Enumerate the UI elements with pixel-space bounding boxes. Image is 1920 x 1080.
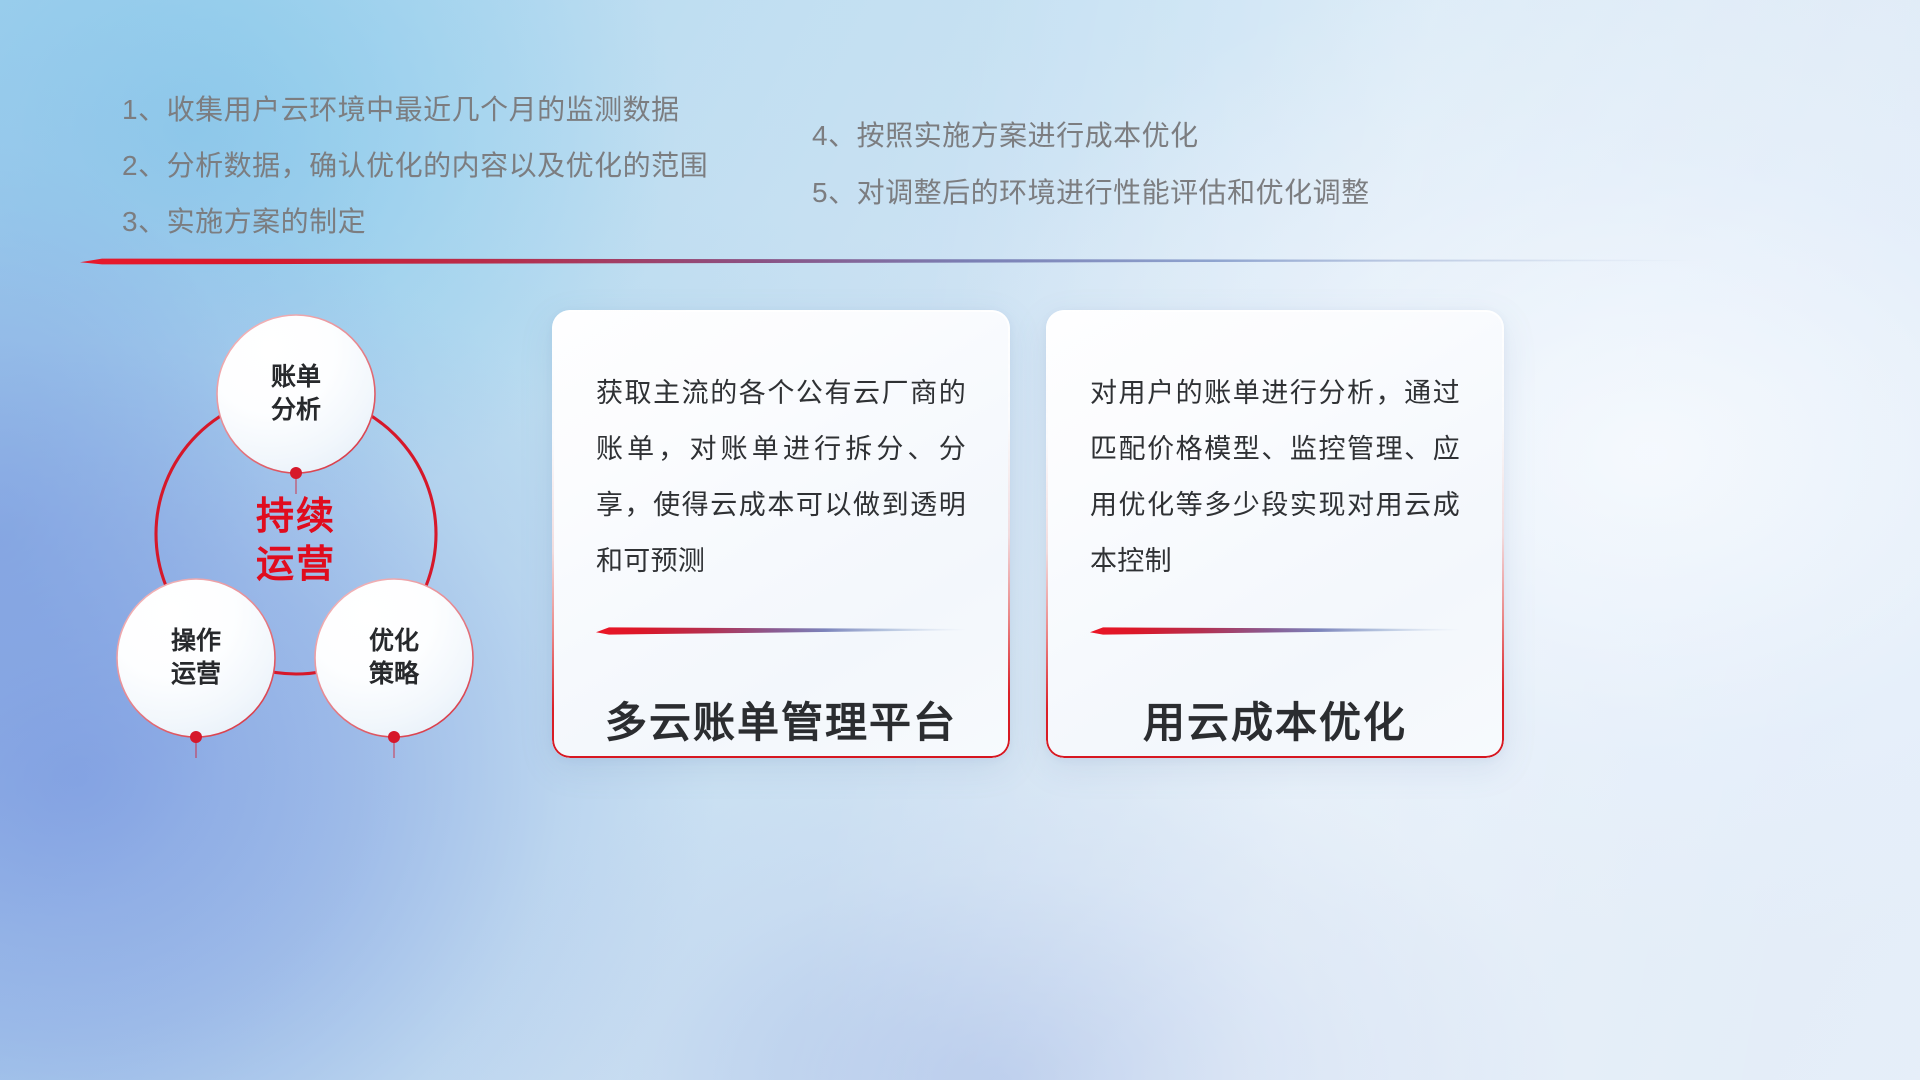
venn-node-optimization[interactable]: 优化 策略 — [315, 579, 473, 758]
venn-node-label-line2: 分析 — [271, 396, 321, 424]
card-body-text: 获取主流的各个公有云厂商的账单，对账单进行拆分、分享，使得云成本可以做到透明和可… — [596, 366, 966, 590]
venn-node-circle — [117, 579, 275, 737]
section-divider — [80, 252, 1700, 268]
step-item: 2、分析数据，确认优化的内容以及优化的范围 — [122, 152, 708, 180]
continuous-operations-diagram: 操作 运营 优化 策略 账单 分析 持续 运营 — [78, 286, 548, 776]
card-body-text: 对用户的账单进行分析，通过匹配价格模型、监控管理、应用优化等多少段实现对用云成本… — [1090, 366, 1460, 590]
card-title: 用云成本优化 — [1090, 689, 1460, 750]
venn-node-label-line1: 优化 — [369, 627, 419, 655]
venn-center-label-line1: 持续 — [256, 496, 336, 538]
card-accent-line — [596, 624, 966, 635]
venn-node-label-line2: 策略 — [369, 659, 420, 688]
steps-list-left: 1、收集用户云环境中最近几个月的监测数据 2、分析数据，确认优化的内容以及优化的… — [122, 96, 708, 264]
venn-node-label-line1: 操作 — [171, 627, 221, 655]
card-title: 多云账单管理平台 — [596, 689, 966, 750]
feature-card-cloud-cost-optimization[interactable]: 对用户的账单进行分析，通过匹配价格模型、监控管理、应用优化等多少段实现对用云成本… — [1046, 310, 1504, 758]
steps-list-right: 4、按照实施方案进行成本优化 5、对调整后的环境进行性能评估和优化调整 — [812, 122, 1370, 236]
step-item: 1、收集用户云环境中最近几个月的监测数据 — [122, 96, 708, 124]
step-item: 4、按照实施方案进行成本优化 — [812, 122, 1370, 150]
venn-node-label-line2: 运营 — [171, 660, 221, 688]
venn-node-label-line1: 账单 — [271, 363, 321, 391]
venn-node-operations[interactable]: 操作 运营 — [117, 579, 275, 758]
card-accent-line — [1090, 624, 1460, 635]
step-item: 3、实施方案的制定 — [122, 208, 708, 236]
venn-node-circle — [315, 579, 473, 737]
feature-card-multi-cloud-billing-platform[interactable]: 获取主流的各个公有云厂商的账单，对账单进行拆分、分享，使得云成本可以做到透明和可… — [552, 310, 1010, 758]
step-item: 5、对调整后的环境进行性能评估和优化调整 — [812, 179, 1370, 207]
venn-center-label-line2: 运营 — [256, 544, 336, 586]
venn-node-billing-analysis[interactable]: 账单 分析 — [217, 315, 375, 494]
venn-node-circle — [217, 315, 375, 473]
